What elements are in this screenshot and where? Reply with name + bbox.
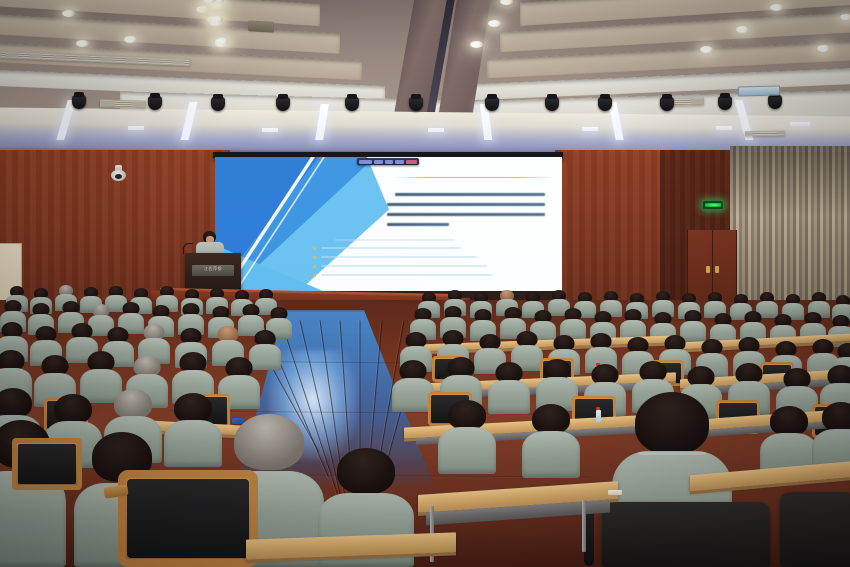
ceiling-downlight: [62, 10, 75, 17]
ceiling-spotlight: [211, 97, 225, 111]
conference-hall-photo: 江西萍钢: [0, 0, 850, 567]
podium-microphone: [183, 243, 193, 254]
ceiling-spotlight: [345, 97, 359, 111]
ceiling-spotlight: [148, 96, 162, 110]
toolbar-button-prev[interactable]: [359, 160, 372, 164]
projection-screen: [215, 157, 562, 291]
ceiling-downlight: [817, 45, 830, 52]
ceiling-spotlight: [72, 95, 86, 109]
presentation-control-toolbar[interactable]: [357, 158, 419, 165]
ceiling-spotlight: [409, 97, 423, 111]
ceiling-spotlight: [545, 97, 559, 111]
ceiling-downlight: [770, 4, 783, 11]
desk-leg: [582, 500, 586, 552]
office-chair[interactable]: [780, 492, 850, 567]
audience-member: [522, 404, 580, 478]
wood-chair-foreground[interactable]: [118, 470, 258, 567]
slide-footnote-line: [321, 265, 487, 267]
slide-bullet-marker: [313, 247, 316, 250]
ceiling-spotlight: [718, 96, 732, 110]
ceiling-downlight: [488, 20, 501, 27]
wood-chair[interactable]: [12, 438, 82, 490]
slide-body-line: [387, 203, 545, 206]
ceiling-access-panel: [738, 85, 780, 96]
toolbar-button-laser[interactable]: [395, 160, 404, 164]
ceiling-downlight: [470, 41, 483, 48]
slide-footnote-line: [321, 247, 461, 249]
slide-bullet-marker: [313, 265, 316, 268]
presentation-slide: [215, 157, 562, 291]
lectern-name-plate: 江西萍钢: [192, 265, 235, 276]
ceiling-spotlight: [598, 97, 612, 111]
ceiling-spotlight: [276, 97, 290, 111]
ptz-dome-camera: [111, 165, 126, 182]
audience-member: [438, 400, 496, 474]
slide-footnote-line: [321, 274, 493, 276]
ceiling-downlight: [124, 36, 137, 43]
ceiling: [0, 0, 850, 152]
ceiling-spotlight: [660, 97, 674, 111]
ceiling-air-vent: [100, 99, 146, 108]
exit-sign: [702, 200, 724, 210]
ceiling-downlight: [736, 26, 749, 33]
ceiling-spotlight: [768, 95, 782, 109]
ceiling-spotlight: [485, 97, 499, 111]
ceiling-downlight: [700, 46, 713, 53]
toolbar-button-next[interactable]: [374, 160, 383, 164]
lectern-plate-text: 江西萍钢: [192, 266, 235, 271]
toolbar-button-pen[interactable]: [385, 160, 392, 164]
slide-divider: [393, 177, 555, 178]
slide-footnote-line: [335, 239, 455, 241]
slide-bullet-marker: [313, 256, 316, 259]
slide-body-line: [395, 193, 545, 196]
slide-body-line: [387, 213, 545, 216]
office-chair[interactable]: [602, 502, 770, 567]
ceiling-downlight: [500, 0, 513, 5]
ceiling-downlight: [196, 6, 209, 13]
ceiling-downlight: [840, 14, 850, 20]
slide-bullet-marker: [313, 274, 316, 277]
desk-paper[interactable]: [608, 490, 622, 495]
toolbar-button-end-show[interactable]: [406, 160, 417, 164]
ceiling-downlight: [76, 40, 89, 47]
slide-body-line: [387, 223, 449, 226]
water-bottle[interactable]: [596, 410, 601, 422]
ceiling-air-vent: [745, 131, 785, 137]
slide-footnote-line: [321, 256, 477, 258]
